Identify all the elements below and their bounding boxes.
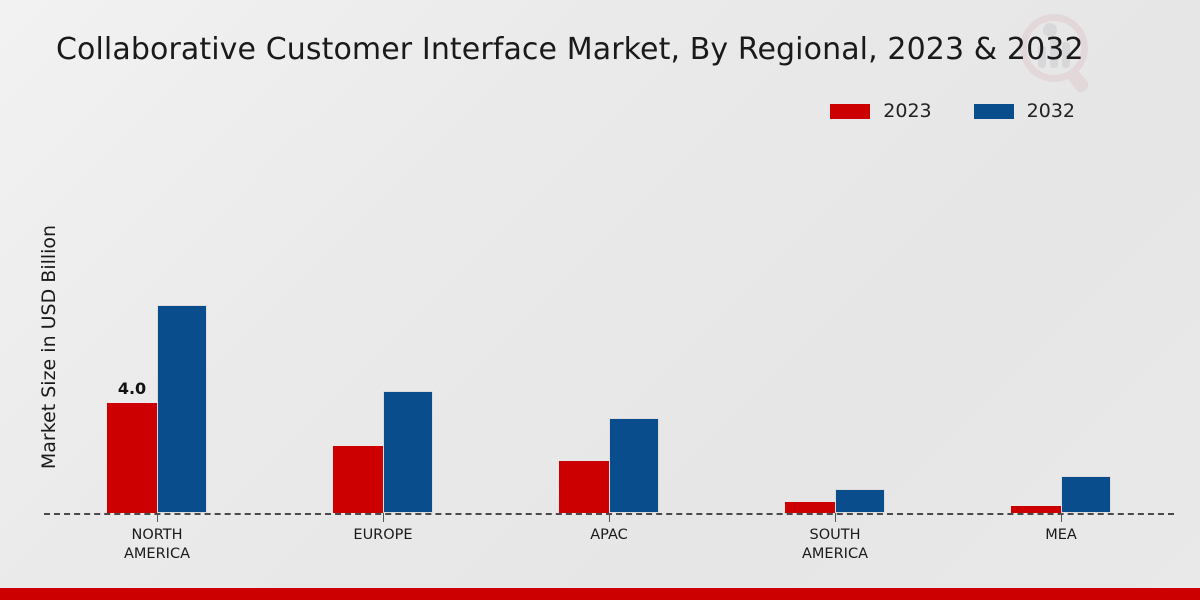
x-axis-label-europe: EUROPE — [270, 526, 496, 545]
x-axis-tick-south-america — [835, 513, 836, 522]
bar-south-america-2032[interactable] — [835, 489, 885, 513]
chart-legend: 2023 2032 — [830, 100, 1075, 122]
x-axis-label-south-america-line1: SOUTH — [810, 527, 861, 543]
legend-label-2023: 2023 — [883, 100, 931, 122]
x-axis-label-apac: APAC — [496, 526, 722, 545]
chart-page: Collaborative Customer Interface Market,… — [0, 0, 1200, 600]
bar-mea-2032[interactable] — [1061, 476, 1111, 513]
bar-apac-2032[interactable] — [609, 418, 659, 513]
x-axis-label-apac-line1: APAC — [590, 527, 628, 543]
bar-apac-2023[interactable] — [559, 461, 609, 513]
x-axis-label-north-america-line1: NORTH — [131, 527, 182, 543]
plot-area: 4.0 NORTH AMERICA EUROPE — [44, 140, 1174, 514]
legend-item-2023[interactable]: 2023 — [830, 100, 931, 122]
bar-group-north-america: 4.0 NORTH AMERICA — [44, 140, 270, 513]
x-axis-label-south-america-line2: AMERICA — [802, 546, 868, 562]
x-axis-tick-north-america — [157, 513, 158, 522]
bar-europe-2023[interactable] — [333, 446, 383, 513]
legend-swatch-2032 — [974, 104, 1014, 119]
x-axis-tick-apac — [609, 513, 610, 522]
x-axis-label-north-america: NORTH AMERICA — [44, 526, 270, 564]
bar-group-apac: APAC — [496, 140, 722, 513]
legend-label-2032: 2032 — [1027, 100, 1075, 122]
x-axis-label-north-america-line2: AMERICA — [124, 546, 190, 562]
x-axis-label-south-america: SOUTH AMERICA — [722, 526, 948, 564]
x-axis-tick-mea — [1061, 513, 1062, 522]
bar-south-america-2023[interactable] — [785, 502, 835, 513]
bar-group-mea: MEA — [948, 140, 1174, 513]
chart-title: Collaborative Customer Interface Market,… — [56, 32, 1084, 67]
x-axis-label-mea-line1: MEA — [1045, 527, 1077, 543]
bar-north-america-2023[interactable] — [107, 403, 157, 513]
x-axis-label-mea: MEA — [948, 526, 1174, 545]
legend-swatch-2023 — [830, 104, 870, 119]
x-axis-tick-europe — [383, 513, 384, 522]
bar-group-europe: EUROPE — [270, 140, 496, 513]
bar-europe-2032[interactable] — [383, 391, 433, 513]
footer-accent-bar — [0, 588, 1200, 600]
legend-item-2032[interactable]: 2032 — [974, 100, 1075, 122]
bar-group-south-america: SOUTH AMERICA — [722, 140, 948, 513]
bar-north-america-2032[interactable] — [157, 305, 207, 513]
x-axis-label-europe-line1: EUROPE — [353, 527, 412, 543]
bar-mea-2023[interactable] — [1011, 506, 1061, 513]
